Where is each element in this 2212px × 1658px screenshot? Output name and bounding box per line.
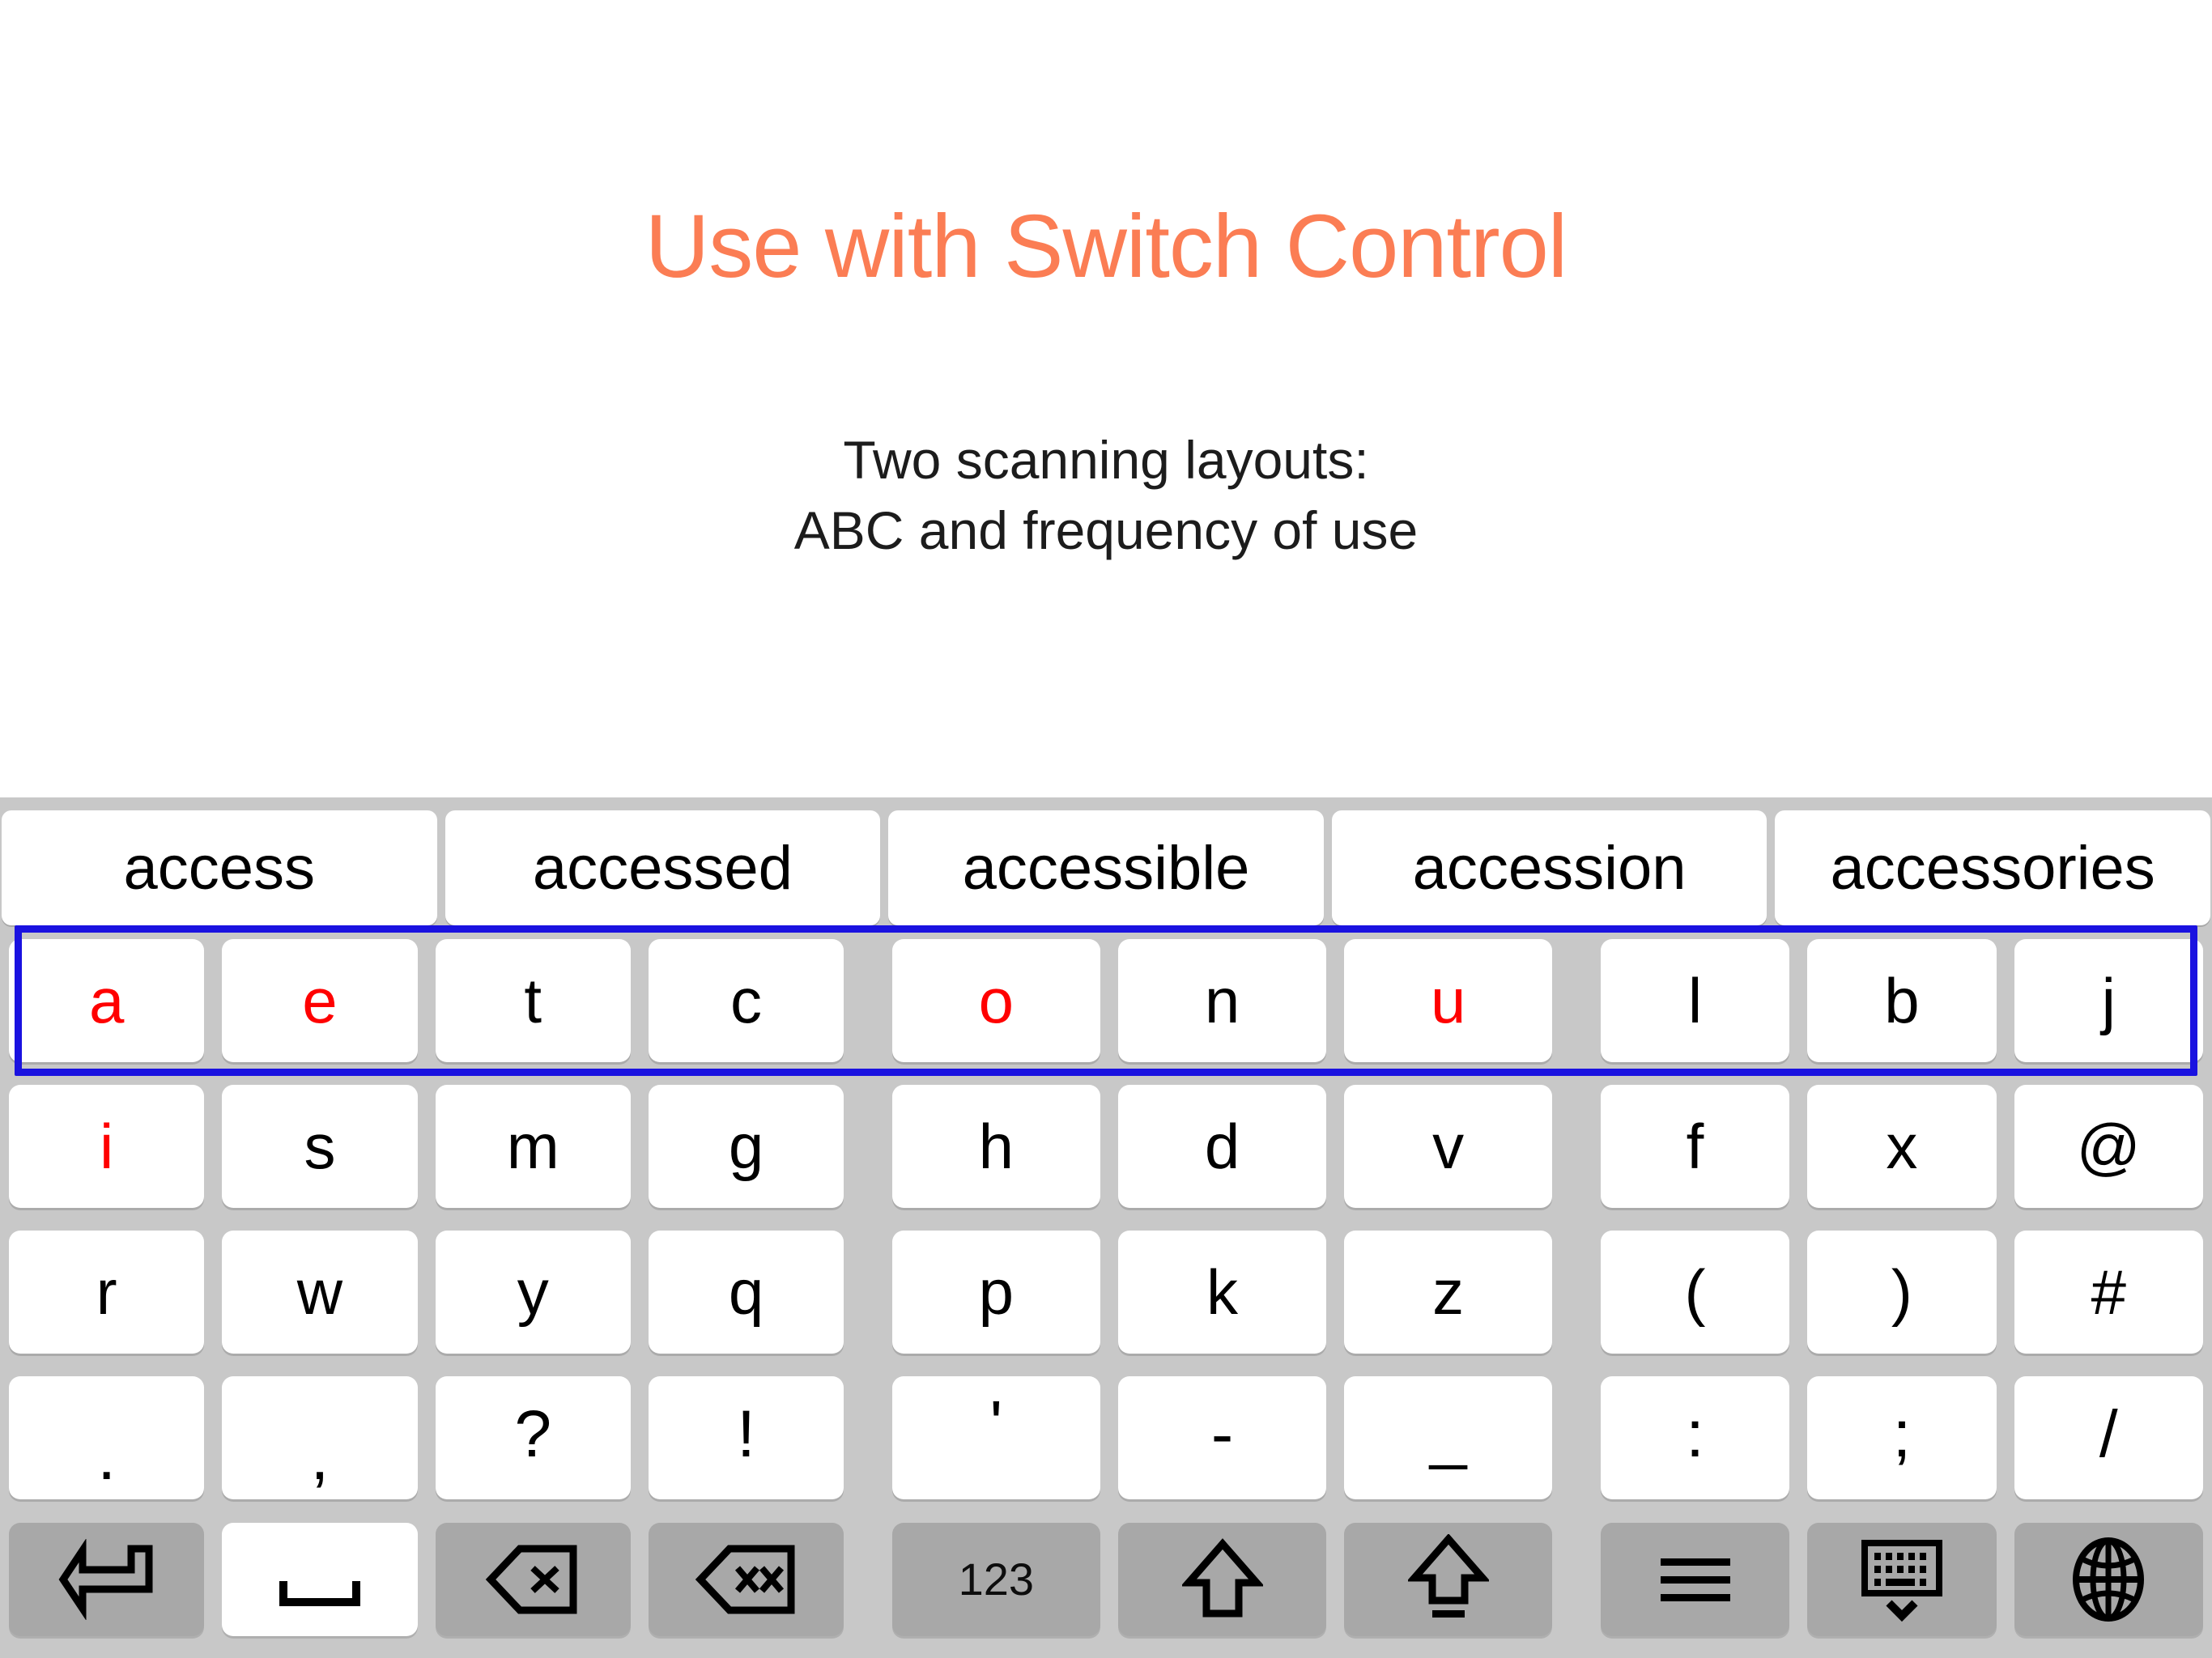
key-p[interactable]: p <box>892 1231 1100 1354</box>
key-cell: ! <box>640 1369 853 1507</box>
space-key[interactable] <box>222 1523 417 1636</box>
key-cell: e <box>213 932 426 1069</box>
key-apostrophe[interactable]: ' <box>892 1376 1100 1499</box>
key-cell: h <box>883 1078 1109 1215</box>
key-cell: : <box>1592 1369 1798 1507</box>
key-cell: l <box>1592 932 1798 1069</box>
key-c[interactable]: c <box>649 939 844 1062</box>
delete-word-key[interactable] <box>649 1523 844 1636</box>
key-cell: n <box>1109 932 1335 1069</box>
key-b[interactable]: b <box>1807 939 1996 1062</box>
key-z[interactable]: z <box>1344 1231 1552 1354</box>
group-gutter <box>853 1369 883 1507</box>
key-o[interactable]: o <box>892 939 1100 1062</box>
key-cell: - <box>1109 1369 1335 1507</box>
shift-icon <box>1182 1537 1263 1622</box>
key-cell: / <box>2006 1369 2212 1507</box>
hide-keyboard-key[interactable] <box>1807 1523 1996 1636</box>
key-g[interactable]: g <box>649 1085 844 1208</box>
key-t[interactable]: t <box>436 939 631 1062</box>
key-cell <box>0 1515 213 1644</box>
key-cell: m <box>427 1078 640 1215</box>
space-icon <box>267 1539 372 1620</box>
onscreen-keyboard: access accessed accessible accession acc… <box>0 797 2212 1658</box>
key-cell: . <box>0 1369 213 1507</box>
delete-key[interactable] <box>436 1523 631 1636</box>
group-gutter <box>853 1223 883 1361</box>
key-d[interactable]: d <box>1118 1085 1326 1208</box>
group-gutter <box>1561 1078 1592 1215</box>
key-cell: d <box>1109 1078 1335 1215</box>
key-x[interactable]: x <box>1807 1085 1996 1208</box>
hide-keyboard-icon <box>1853 1535 1950 1624</box>
key-left-paren[interactable]: ( <box>1601 1231 1789 1354</box>
key-cell: y <box>427 1223 640 1361</box>
key-cell <box>1335 1515 1561 1644</box>
key-hyphen[interactable]: - <box>1118 1376 1326 1499</box>
key-cell <box>213 1515 426 1644</box>
suggestion-item[interactable]: access <box>2 810 437 925</box>
group-gutter <box>1561 1223 1592 1361</box>
group-gutter <box>853 1078 883 1215</box>
key-cell: w <box>213 1223 426 1361</box>
key-cell: q <box>640 1223 853 1361</box>
key-cell: b <box>1798 932 2005 1069</box>
suggestion-item[interactable]: accessed <box>445 810 881 925</box>
group-gutter <box>853 1515 883 1644</box>
key-cell: 123 <box>883 1515 1109 1644</box>
key-underscore[interactable]: _ <box>1344 1376 1552 1499</box>
suggestion-item[interactable]: accessible <box>888 810 1324 925</box>
return-icon <box>58 1539 155 1620</box>
subtitle: Two scanning layouts: ABC and frequency … <box>0 425 2212 566</box>
numeric-key[interactable]: 123 <box>892 1523 1100 1636</box>
group-gutter <box>1561 1369 1592 1507</box>
key-cell: ) <box>1798 1223 2005 1361</box>
key-cell <box>2006 1515 2212 1644</box>
delete-icon <box>484 1539 581 1620</box>
key-cell <box>427 1515 640 1644</box>
delete-word-icon <box>694 1539 799 1620</box>
key-cell: v <box>1335 1078 1561 1215</box>
key-u[interactable]: u <box>1344 939 1552 1062</box>
key-cell: i <box>0 1078 213 1215</box>
key-i[interactable]: i <box>9 1085 204 1208</box>
key-l[interactable]: l <box>1601 939 1789 1062</box>
key-at[interactable]: @ <box>2014 1085 2203 1208</box>
key-q[interactable]: q <box>649 1231 844 1354</box>
key-j[interactable]: j <box>2014 939 2203 1062</box>
key-cell: u <box>1335 932 1561 1069</box>
key-cell: k <box>1109 1223 1335 1361</box>
key-hash[interactable]: # <box>2014 1231 2203 1354</box>
suggestion-item[interactable]: accession <box>1332 810 1767 925</box>
key-right-paren[interactable]: ) <box>1807 1231 1996 1354</box>
key-cell: ' <box>883 1369 1109 1507</box>
key-cell: t <box>427 932 640 1069</box>
key-cell <box>1592 1515 1798 1644</box>
key-row-3: r w y q p k z ( ) # <box>0 1223 2212 1361</box>
subtitle-line-1: Two scanning layouts: <box>0 425 2212 495</box>
key-period[interactable]: . <box>9 1376 204 1499</box>
subtitle-line-2: ABC and frequency of use <box>0 495 2212 566</box>
key-cell: , <box>213 1369 426 1507</box>
key-w[interactable]: w <box>222 1231 417 1354</box>
key-cell: ; <box>1798 1369 2005 1507</box>
key-cell: ( <box>1592 1223 1798 1361</box>
key-cell: j <box>2006 932 2212 1069</box>
key-r[interactable]: r <box>9 1231 204 1354</box>
key-row-1: a e t c o n u l b j <box>0 932 2212 1069</box>
key-comma[interactable]: , <box>222 1376 417 1499</box>
key-cell: _ <box>1335 1369 1561 1507</box>
key-row-2: i s m g h d v f x @ <box>0 1078 2212 1215</box>
shift-key[interactable] <box>1118 1523 1326 1636</box>
suggestion-bar: access accessed accessible accession acc… <box>0 810 2212 925</box>
key-f[interactable]: f <box>1601 1085 1789 1208</box>
key-cell: c <box>640 932 853 1069</box>
key-a[interactable]: a <box>9 939 204 1062</box>
key-s[interactable]: s <box>222 1085 417 1208</box>
key-k[interactable]: k <box>1118 1231 1326 1354</box>
key-colon[interactable]: : <box>1601 1376 1789 1499</box>
key-n[interactable]: n <box>1118 939 1326 1062</box>
key-cell: p <box>883 1223 1109 1361</box>
globe-icon <box>2068 1535 2149 1624</box>
key-e[interactable]: e <box>222 939 417 1062</box>
group-gutter <box>1561 1515 1592 1644</box>
key-h[interactable]: h <box>892 1085 1100 1208</box>
key-cell: z <box>1335 1223 1561 1361</box>
group-gutter <box>1561 932 1592 1069</box>
page-title: Use with Switch Control <box>0 202 2212 291</box>
menu-key[interactable] <box>1601 1523 1789 1636</box>
key-cell: o <box>883 932 1109 1069</box>
group-gutter <box>853 932 883 1069</box>
key-question[interactable]: ? <box>436 1376 631 1499</box>
key-cell: @ <box>2006 1078 2212 1215</box>
key-cell: ? <box>427 1369 640 1507</box>
key-slash[interactable]: / <box>2014 1376 2203 1499</box>
key-cell: x <box>1798 1078 2005 1215</box>
intro-section: Use with Switch Control Two scanning lay… <box>0 0 2212 797</box>
key-exclamation[interactable]: ! <box>649 1376 844 1499</box>
key-cell: a <box>0 932 213 1069</box>
menu-icon <box>1651 1547 1740 1612</box>
key-cell <box>1109 1515 1335 1644</box>
caps-lock-icon <box>1408 1534 1489 1625</box>
key-row-functions: 123 <box>0 1515 2212 1644</box>
return-key[interactable] <box>9 1523 204 1636</box>
key-cell: f <box>1592 1078 1798 1215</box>
key-semicolon[interactable]: ; <box>1807 1376 1996 1499</box>
globe-key[interactable] <box>2014 1523 2203 1636</box>
key-cell: r <box>0 1223 213 1361</box>
key-cell: g <box>640 1078 853 1215</box>
key-m[interactable]: m <box>436 1085 631 1208</box>
key-cell: s <box>213 1078 426 1215</box>
key-cell <box>1798 1515 2005 1644</box>
key-y[interactable]: y <box>436 1231 631 1354</box>
key-v[interactable]: v <box>1344 1085 1552 1208</box>
suggestion-item[interactable]: accessories <box>1775 810 2210 925</box>
key-cell: # <box>2006 1223 2212 1361</box>
key-cell <box>640 1515 853 1644</box>
key-row-4: . , ? ! ' - _ : ; / <box>0 1369 2212 1507</box>
caps-lock-key[interactable] <box>1344 1523 1552 1636</box>
